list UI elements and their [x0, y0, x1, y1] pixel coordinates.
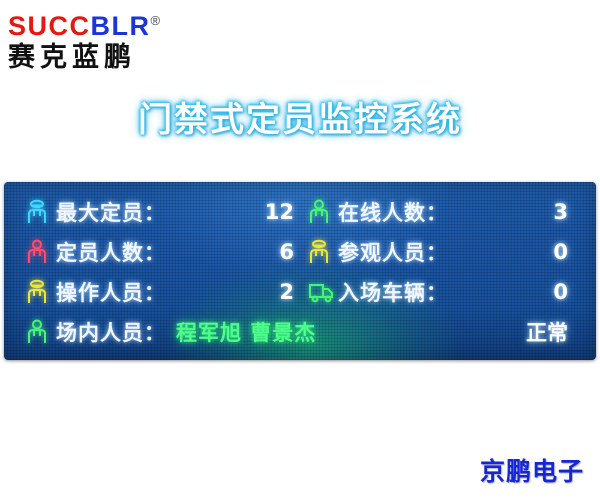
led-label-vehicle-count: 入场车辆： — [338, 277, 448, 307]
brand-logo-succ: SUCC — [8, 11, 91, 41]
led-row-online-count: 在线人数： 3 — [308, 192, 590, 232]
led-value-assigned-count: 6 — [279, 240, 308, 264]
led-row-operator-count: 操作人员： 2 — [26, 272, 308, 312]
led-value-operator-count: 2 — [279, 280, 308, 304]
person-green-icon — [308, 199, 338, 225]
led-label-onsite-personnel: 场内人员： — [56, 317, 166, 347]
led-label-online-count: 在线人数： — [338, 197, 448, 227]
footer-company-logo: 京鹏电子 — [480, 452, 584, 488]
person-cap-cyan-icon — [26, 199, 56, 225]
led-row-visitor-count: 参观人员： 0 — [308, 232, 590, 272]
led-label-visitor-count: 参观人员： — [338, 237, 448, 267]
person-green-icon — [26, 319, 56, 345]
led-value-vehicle-count: 0 — [553, 280, 590, 304]
led-value-visitor-count: 0 — [553, 240, 590, 264]
brand-logo-latin: SUCCBLR® — [8, 6, 238, 41]
led-value-online-count: 3 — [553, 200, 590, 224]
led-display-panel: 最大定员： 12 在线人数： 3 — [4, 182, 596, 360]
brand-logo-blr: BLR — [91, 11, 151, 41]
brand-logo: SUCCBLR® 赛克蓝鹏 — [8, 6, 238, 74]
page-title: 门禁式定员监控系统 — [0, 92, 600, 141]
led-label-assigned-count: 定员人数： — [56, 237, 166, 267]
led-display-grid: 最大定员： 12 在线人数： 3 — [4, 182, 596, 352]
brand-logo-chinese: 赛克蓝鹏 — [8, 42, 238, 74]
person-cap-yellow-icon — [26, 279, 56, 305]
led-value-onsite-names: 程军旭 曹景杰 — [176, 317, 316, 347]
led-label-operator-count: 操作人员： — [56, 277, 166, 307]
status-badge: 正常 — [526, 317, 590, 347]
registered-trademark-icon: ® — [151, 13, 161, 28]
led-label-max-capacity: 最大定员： — [56, 197, 166, 227]
led-row-assigned-count: 定员人数： 6 — [26, 232, 308, 272]
truck-green-icon — [308, 281, 338, 303]
person-red-icon — [26, 239, 56, 265]
person-cap-yellow-icon — [308, 239, 338, 265]
led-row-max-capacity: 最大定员： 12 — [26, 192, 308, 232]
led-row-vehicle-count: 入场车辆： 0 — [308, 272, 590, 312]
led-row-status: 正常 — [308, 312, 590, 352]
led-value-max-capacity: 12 — [265, 200, 308, 224]
led-row-onsite-personnel: 场内人员： 程军旭 曹景杰 — [26, 312, 308, 352]
